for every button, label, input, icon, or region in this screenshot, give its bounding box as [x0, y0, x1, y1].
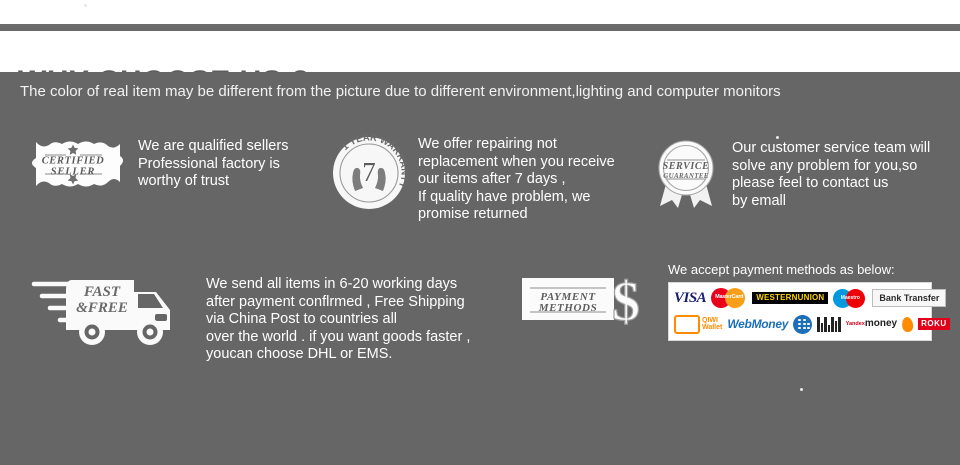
svg-text:METHODS: METHODS — [538, 302, 598, 314]
bank-transfer-logo: Bank Transfer — [872, 289, 946, 307]
maestro-logo: Maestro — [833, 289, 867, 308]
svg-text:&FREE: &FREE — [76, 300, 128, 316]
qiwi-wallet-logo: QIWI Wallet — [674, 315, 722, 334]
fast-free-truck-icon: FAST &FREE — [30, 256, 190, 351]
artifact-dot — [84, 4, 87, 7]
feature-text: We send all items in 6-20 working days a… — [206, 256, 470, 364]
payment-heading: We accept payment methods as below: — [668, 262, 943, 278]
yandex-line2: money — [865, 319, 897, 329]
flame-logo — [901, 316, 914, 332]
artifact-dot — [776, 136, 779, 139]
feature-warranty: 1 YEAR WARRANTY 7 We offer repairing not… — [330, 134, 615, 224]
qiwi-line2: Wallet — [702, 324, 722, 331]
payment-logos-card: VISA MasterCard WESTERN UNION Maestro Ba… — [668, 282, 932, 341]
qiwi-line1: QIWI — [702, 317, 718, 324]
western-union-line2: UNION — [798, 294, 825, 303]
western-union-line1: WESTERN — [756, 294, 797, 303]
promo-banner: WHY CHOOSE US ? The color of real item m… — [0, 0, 960, 465]
svg-text:SERVICE: SERVICE — [663, 161, 710, 172]
svg-text:SELLER: SELLER — [51, 167, 95, 178]
barcode-logo — [817, 316, 841, 332]
payment-methods-icon: PAYMENT METHODS $ — [520, 272, 650, 328]
svg-text:FAST: FAST — [83, 284, 121, 300]
mastercard-logo: MasterCard — [711, 288, 747, 308]
qiwi-mark-icon — [674, 315, 700, 334]
qiwi-label: QIWI Wallet — [702, 317, 722, 332]
disclaimer-text: The color of real item may be different … — [20, 82, 940, 102]
svg-text:7: 7 — [362, 157, 376, 187]
webmoney-logo: WebMoney — [727, 318, 788, 330]
feature-text: We are qualified sellers Professional fa… — [138, 136, 288, 191]
yandex-line1: Yandex — [846, 321, 865, 328]
payment-methods-block: We accept payment methods as below: VISA… — [668, 262, 943, 341]
feature-service-guarantee: SERVICE GUARANTEE Our customer service t… — [652, 138, 930, 210]
mastercard-label: MasterCard — [711, 294, 747, 300]
robokassa-ru-logo: RO KU — [918, 318, 950, 330]
feature-shipping: FAST &FREE We send all items in 6-20 wor… — [30, 256, 470, 364]
visa-logo: VISA — [674, 291, 706, 306]
feature-text: We offer repairing not replacement when … — [418, 134, 615, 224]
yandex-money-logo: Yandex money — [846, 319, 898, 329]
western-union-logo: WESTERN UNION — [752, 292, 828, 305]
artifact-dot — [800, 388, 803, 391]
svg-text:GUARANTEE: GUARANTEE — [663, 172, 709, 180]
header-rule — [0, 24, 960, 31]
service-guarantee-icon: SERVICE GUARANTEE — [652, 138, 720, 210]
moneta-logo — [793, 315, 812, 334]
top-white-strip — [0, 0, 960, 24]
maestro-label: Maestro — [833, 295, 867, 301]
feature-text: Our customer service team will solve any… — [732, 138, 930, 210]
payment-logo-row-1: VISA MasterCard WESTERN UNION Maestro Ba… — [674, 287, 926, 309]
robokassa-line2: KU — [934, 320, 947, 328]
robokassa-line1: RO — [921, 320, 934, 328]
feature-certified-seller: CERTIFIED SELLER We are qualified seller… — [18, 136, 288, 192]
certified-seller-icon: CERTIFIED SELLER — [18, 136, 128, 192]
svg-text:CERTIFIED: CERTIFIED — [42, 156, 105, 167]
payment-logo-row-2: QIWI Wallet WebMoney Yandex — [674, 313, 926, 335]
feature-payment-methods: PAYMENT METHODS $ — [520, 272, 650, 328]
warranty-icon: 1 YEAR WARRANTY 7 — [330, 134, 408, 212]
feature-row-1: CERTIFIED SELLER We are qualified seller… — [0, 130, 960, 245]
svg-text:$: $ — [612, 272, 640, 328]
title-band: WHY CHOOSE US ? — [0, 31, 960, 72]
